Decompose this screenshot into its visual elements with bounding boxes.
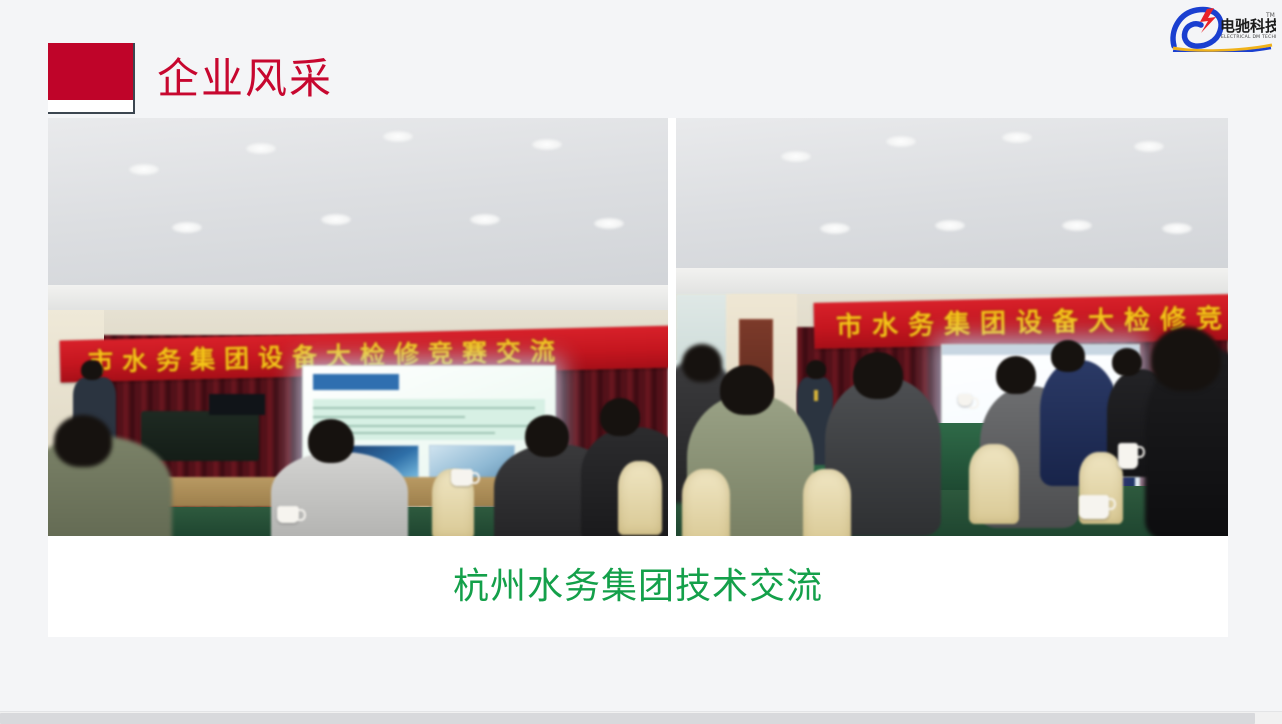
gallery-photo-left[interactable]: 市水务集团设备大检修竞赛交流: [48, 118, 668, 536]
tea-cup: [1079, 495, 1109, 519]
ceiling-light: [129, 164, 159, 175]
horizontal-scrollbar[interactable]: [0, 711, 1282, 724]
page-title: 企业风采: [157, 58, 333, 100]
company-logo[interactable]: 电驰科技 TM ELECTRICAL DM TECHNOLOGY: [1168, 2, 1276, 52]
ceiling-light: [246, 143, 276, 154]
gallery-caption: 杭州水务集团技术交流: [453, 569, 823, 605]
scrollbar-thumb[interactable]: [0, 713, 1255, 724]
photo-scene-right: 市水务集团设备大检修竞赛交: [676, 118, 1228, 536]
slide-text-line: [313, 407, 535, 409]
svg-text:电驰科技: 电驰科技: [1220, 17, 1276, 35]
gallery-photo-right[interactable]: 市水务集团设备大检修竞赛交: [676, 118, 1228, 536]
laptop: [209, 394, 265, 415]
photo-gallery: 市水务集团设备大检修竞赛交流: [48, 118, 1228, 536]
photo-scene-left: 市水务集团设备大检修竞赛交流: [48, 118, 668, 536]
audience-head: [54, 415, 112, 467]
ceiling-light: [820, 223, 850, 234]
audience-head: [853, 352, 903, 399]
tea-cup: [451, 469, 473, 486]
tea-cup: [1118, 443, 1138, 469]
ceiling-light: [594, 218, 624, 229]
audience-head: [1151, 327, 1221, 391]
ceiling: [676, 118, 1228, 294]
ceiling-light: [321, 214, 351, 225]
ceiling-light: [1162, 223, 1192, 234]
audience-head: [600, 398, 640, 436]
tea-cup: [958, 394, 972, 406]
section-title-row: 企业风采: [48, 43, 333, 114]
audience-head: [1112, 348, 1142, 376]
ceiling: [48, 118, 668, 310]
banquet-chair: [803, 469, 851, 536]
audience-head: [682, 344, 722, 382]
ceiling-light: [383, 131, 413, 142]
ceiling-light: [781, 151, 811, 162]
ceiling-light: [935, 220, 965, 231]
audience-head: [308, 419, 354, 463]
page-header: 电驰科技 TM ELECTRICAL DM TECHNOLOGY 企业风采: [0, 0, 1282, 118]
ceiling-light: [1002, 132, 1032, 143]
ceiling-light: [470, 214, 500, 225]
svg-text:TM: TM: [1265, 12, 1275, 19]
banquet-chair: [682, 469, 730, 536]
banquet-chair: [618, 461, 662, 535]
banquet-chair: [969, 444, 1019, 524]
ceiling-light: [532, 139, 562, 150]
equipment-table: [141, 411, 259, 461]
ceiling-light: [172, 222, 202, 233]
section-title-badge: [48, 43, 135, 114]
audience-head: [996, 356, 1036, 394]
ceiling-light: [1134, 141, 1164, 152]
gallery-card: 市水务集团设备大检修竞赛交流: [48, 118, 1228, 637]
company-logo-icon: 电驰科技 TM ELECTRICAL DM TECHNOLOGY: [1168, 2, 1276, 52]
microphone: [814, 390, 818, 401]
audience-head: [525, 415, 569, 457]
audience-member: [271, 452, 407, 536]
gallery-caption-bar: 杭州水务集团技术交流: [48, 536, 1228, 637]
slide-header-bar: [313, 374, 399, 390]
audience-head: [1051, 340, 1085, 372]
audience-head: [720, 365, 774, 415]
screen-toolbar: [942, 345, 1139, 355]
slide-text-line: [313, 416, 464, 418]
presenter-head: [806, 360, 826, 379]
ceiling-light: [1062, 220, 1092, 231]
ceiling-light: [886, 136, 916, 147]
tea-cup: [277, 506, 299, 523]
svg-text:ELECTRICAL DM TECHNOLOGY: ELECTRICAL DM TECHNOLOGY: [1221, 34, 1276, 40]
